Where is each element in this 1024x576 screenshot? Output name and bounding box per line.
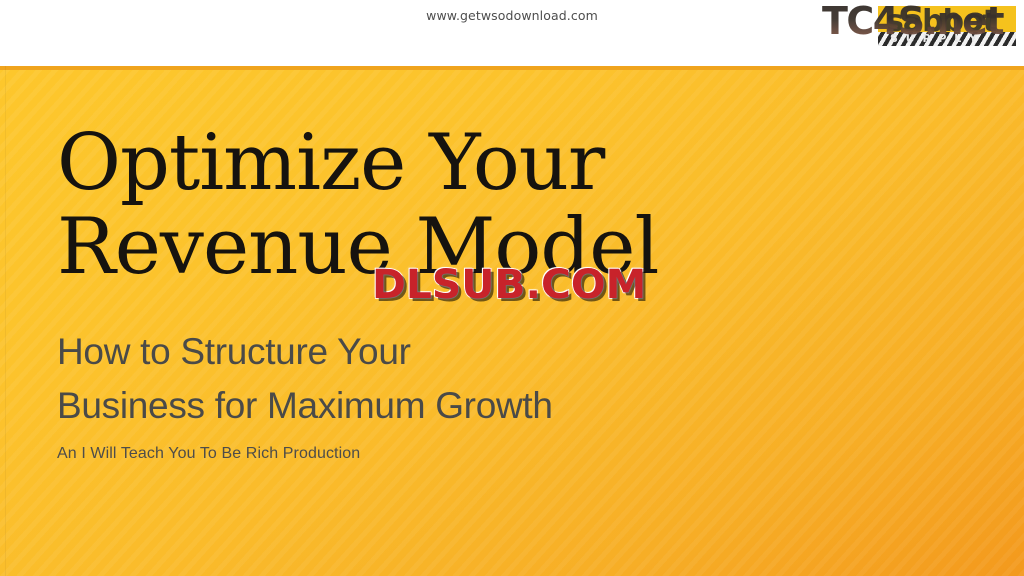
subtitle-line-1: How to Structure Your xyxy=(57,325,737,379)
slide-screen: www.getwsodownload.com sabbot S U P P L … xyxy=(0,0,1024,576)
slide-body: Optimize Your Revenue Model How to Struc… xyxy=(0,66,1024,576)
tc4s-logo: sabbot S U P P L Y TC4S.net xyxy=(822,0,1018,56)
slide-left-seam xyxy=(5,66,6,576)
slide-top-rule xyxy=(0,66,1024,70)
production-credit-label: An I Will Teach You To Be Rich Productio… xyxy=(57,445,360,463)
slide-subtitle: How to Structure Your Business for Maxim… xyxy=(57,325,737,433)
subtitle-line-2: Business for Maximum Growth xyxy=(57,379,737,433)
headline-line-1: Optimize Your xyxy=(57,121,737,205)
top-banner-bar: www.getwsodownload.com sabbot S U P P L … xyxy=(0,0,1024,66)
tc4s-logo-text: TC4S.net xyxy=(822,0,1018,44)
dlsub-watermark: DLSUB.COM xyxy=(372,262,646,308)
